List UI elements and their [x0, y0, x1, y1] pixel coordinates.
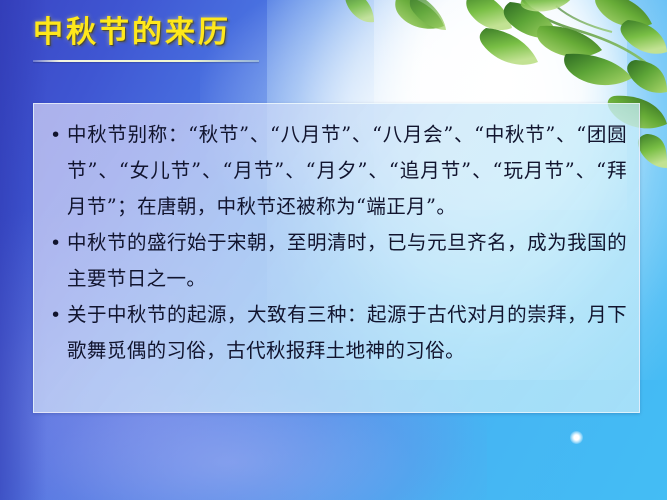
title-underline [33, 60, 259, 62]
bullet-icon: • [46, 117, 67, 153]
bullet-paragraph: • 中秋节的盛行始于宋朝，至明清时，已与元旦齐名，成为我国的主要节日之一。 [46, 225, 627, 297]
sparkle-icon [570, 431, 583, 444]
paragraph-text: 中秋节别称：“秋节”、“八月节”、“八月会”、“中秋节”、“团圆节”、“女儿节”… [67, 117, 627, 225]
bullet-icon: • [46, 297, 67, 333]
bullet-paragraph: • 关于中秋节的起源，大致有三种：起源于古代对月的崇拜，月下歌舞觅偶的习俗，古代… [46, 297, 627, 369]
title-area: 中秋节的来历 [33, 16, 333, 62]
slide-canvas: 中秋节的来历 • 中秋节别称：“秋节”、“八月节”、“八月会”、“中秋节”、“团… [0, 0, 667, 500]
paragraph-text: 中秋节的盛行始于宋朝，至明清时，已与元旦齐名，成为我国的主要节日之一。 [67, 225, 627, 297]
bullet-paragraph: • 中秋节别称：“秋节”、“八月节”、“八月会”、“中秋节”、“团圆节”、“女儿… [46, 117, 627, 225]
content-box: • 中秋节别称：“秋节”、“八月节”、“八月会”、“中秋节”、“团圆节”、“女儿… [33, 103, 640, 413]
bullet-icon: • [46, 225, 67, 261]
page-title: 中秋节的来历 [33, 16, 333, 51]
paragraph-text: 关于中秋节的起源，大致有三种：起源于古代对月的崇拜，月下歌舞觅偶的习俗，古代秋报… [67, 297, 627, 369]
